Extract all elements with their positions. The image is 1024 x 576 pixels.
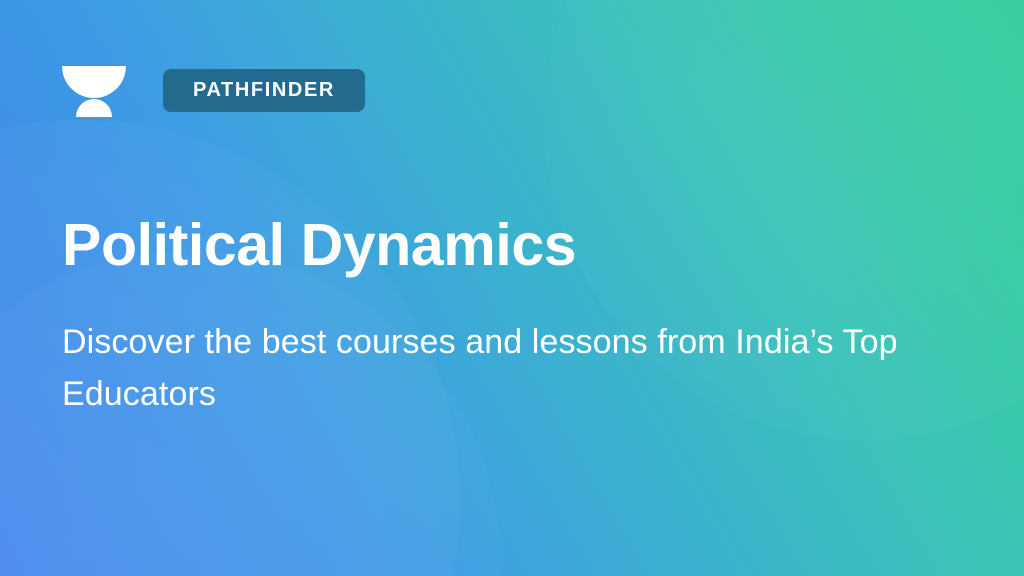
page-title: Political Dynamics bbox=[62, 212, 982, 278]
page-subtitle: Discover the best courses and lessons fr… bbox=[62, 278, 962, 420]
promo-banner: PATHFINDER Political Dynamics Discover t… bbox=[0, 0, 1024, 576]
pathfinder-badge[interactable]: PATHFINDER bbox=[163, 69, 365, 112]
banner-copy: Political Dynamics Discover the best cou… bbox=[62, 212, 982, 420]
chalice-logo-icon bbox=[62, 62, 126, 118]
brand-header: PATHFINDER bbox=[62, 62, 365, 118]
pathfinder-badge-label: PATHFINDER bbox=[193, 80, 335, 100]
